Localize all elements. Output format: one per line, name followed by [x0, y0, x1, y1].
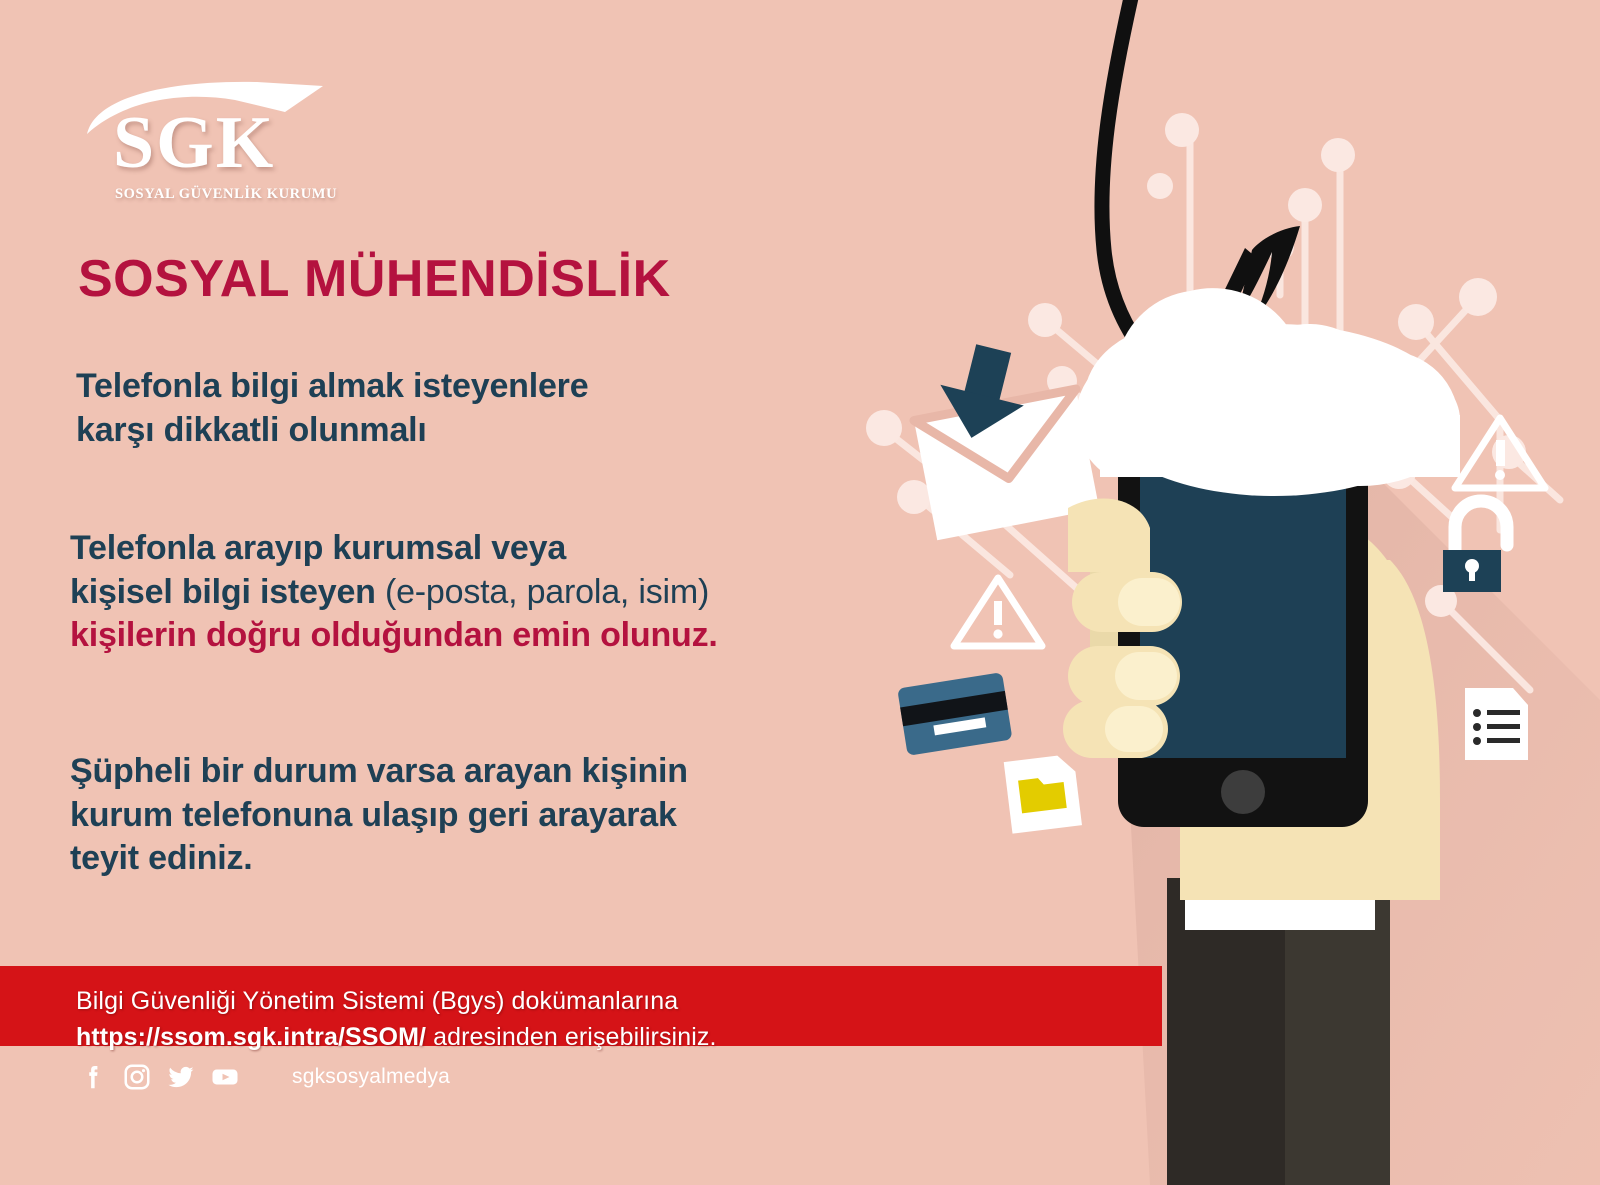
cloud-icon	[1076, 288, 1460, 496]
banner-line-2-tail: adresinden erişebilirsiniz.	[426, 1023, 716, 1051]
banner-line-2: https://ssom.sgk.intra/SSOM/ adresinden …	[76, 1020, 1136, 1056]
warning-triangle-icon-right	[1455, 418, 1545, 488]
fishing-hook-icon	[1102, 0, 1300, 420]
social-handle: sgksosyalmedya	[292, 1065, 450, 1089]
social-media-row: sgksosyalmedya	[78, 1062, 450, 1092]
paragraph-1-line-2: karşı dikkatli olunmalı	[76, 409, 588, 453]
diagonal-shadow	[1120, 430, 1600, 1185]
infographic-poster: SGK SOSYAL GÜVENLİK KURUMU SOSYAL MÜHEND…	[0, 0, 1600, 1185]
logo-subtitle: SOSYAL GÜVENLİK KURUMU	[115, 186, 337, 203]
warning-triangle-icon-left	[954, 578, 1042, 646]
envelope-icon	[914, 389, 1099, 540]
paragraph-2-line-2-bold: kişisel bilgi isteyen	[70, 573, 385, 611]
suit-sleeve	[1167, 878, 1390, 1185]
paragraph-3-line-1: Şüpheli bir durum varsa arayan kişinin	[70, 750, 688, 794]
circuit-traces	[885, 130, 1560, 690]
banner-line-1: Bilgi Güvenliği Yönetim Sistemi (Bgys) d…	[76, 984, 1136, 1020]
paragraph-3-line-3: teyit ediniz.	[70, 837, 688, 881]
instagram-icon[interactable]	[122, 1062, 152, 1092]
paragraph-3-line-2: kurum telefonuna ulaşıp geri arayarak	[70, 794, 688, 838]
hand-fingers	[1063, 498, 1182, 758]
hand-icon	[1090, 525, 1440, 900]
paragraph-1-line-1: Telefonla bilgi almak isteyenlere	[76, 365, 588, 409]
bgys-url-link[interactable]: https://ssom.sgk.intra/SSOM/	[76, 1023, 426, 1051]
circuit-nodes	[866, 113, 1526, 617]
paragraph-1: Telefonla bilgi almak isteyenlere karşı …	[76, 365, 588, 452]
paragraph-2-line-1: Telefonla arayıp kurumsal veya	[70, 527, 718, 571]
facebook-icon[interactable]	[78, 1062, 108, 1092]
logo-acronym: SGK	[113, 106, 275, 180]
paragraph-3: Şüpheli bir durum varsa arayan kişinin k…	[70, 750, 688, 881]
document-folder-icon	[1004, 754, 1082, 834]
shirt-cuff	[1185, 870, 1375, 930]
sgk-logo: SGK SOSYAL GÜVENLİK KURUMU	[85, 78, 335, 208]
paragraph-2-line-2-light: (e-posta, parola, isim)	[385, 573, 709, 611]
paragraph-2-line-3: kişilerin doğru olduğundan emin olunuz.	[70, 614, 718, 658]
page-title: SOSYAL MÜHENDİSLİK	[78, 252, 671, 307]
paragraph-2-line-2: kişisel bilgi isteyen (e-posta, parola, …	[70, 571, 718, 615]
credit-card-icon	[897, 672, 1012, 756]
youtube-icon[interactable]	[210, 1062, 240, 1092]
down-arrow-icon	[930, 338, 1036, 448]
paragraph-2-line-3-crimson: kişilerin doğru olduğundan emin olunuz.	[70, 616, 718, 654]
paragraph-2: Telefonla arayıp kurumsal veya kişisel b…	[70, 527, 718, 658]
smartphone-icon	[1118, 442, 1368, 827]
banner-text: Bilgi Güvenliği Yönetim Sistemi (Bgys) d…	[76, 984, 1136, 1055]
paragraph-2-line-1-bold: Telefonla arayıp kurumsal veya	[70, 529, 566, 567]
list-document-icon	[1465, 688, 1528, 760]
open-padlock-icon	[1443, 501, 1507, 592]
twitter-icon[interactable]	[166, 1062, 196, 1092]
